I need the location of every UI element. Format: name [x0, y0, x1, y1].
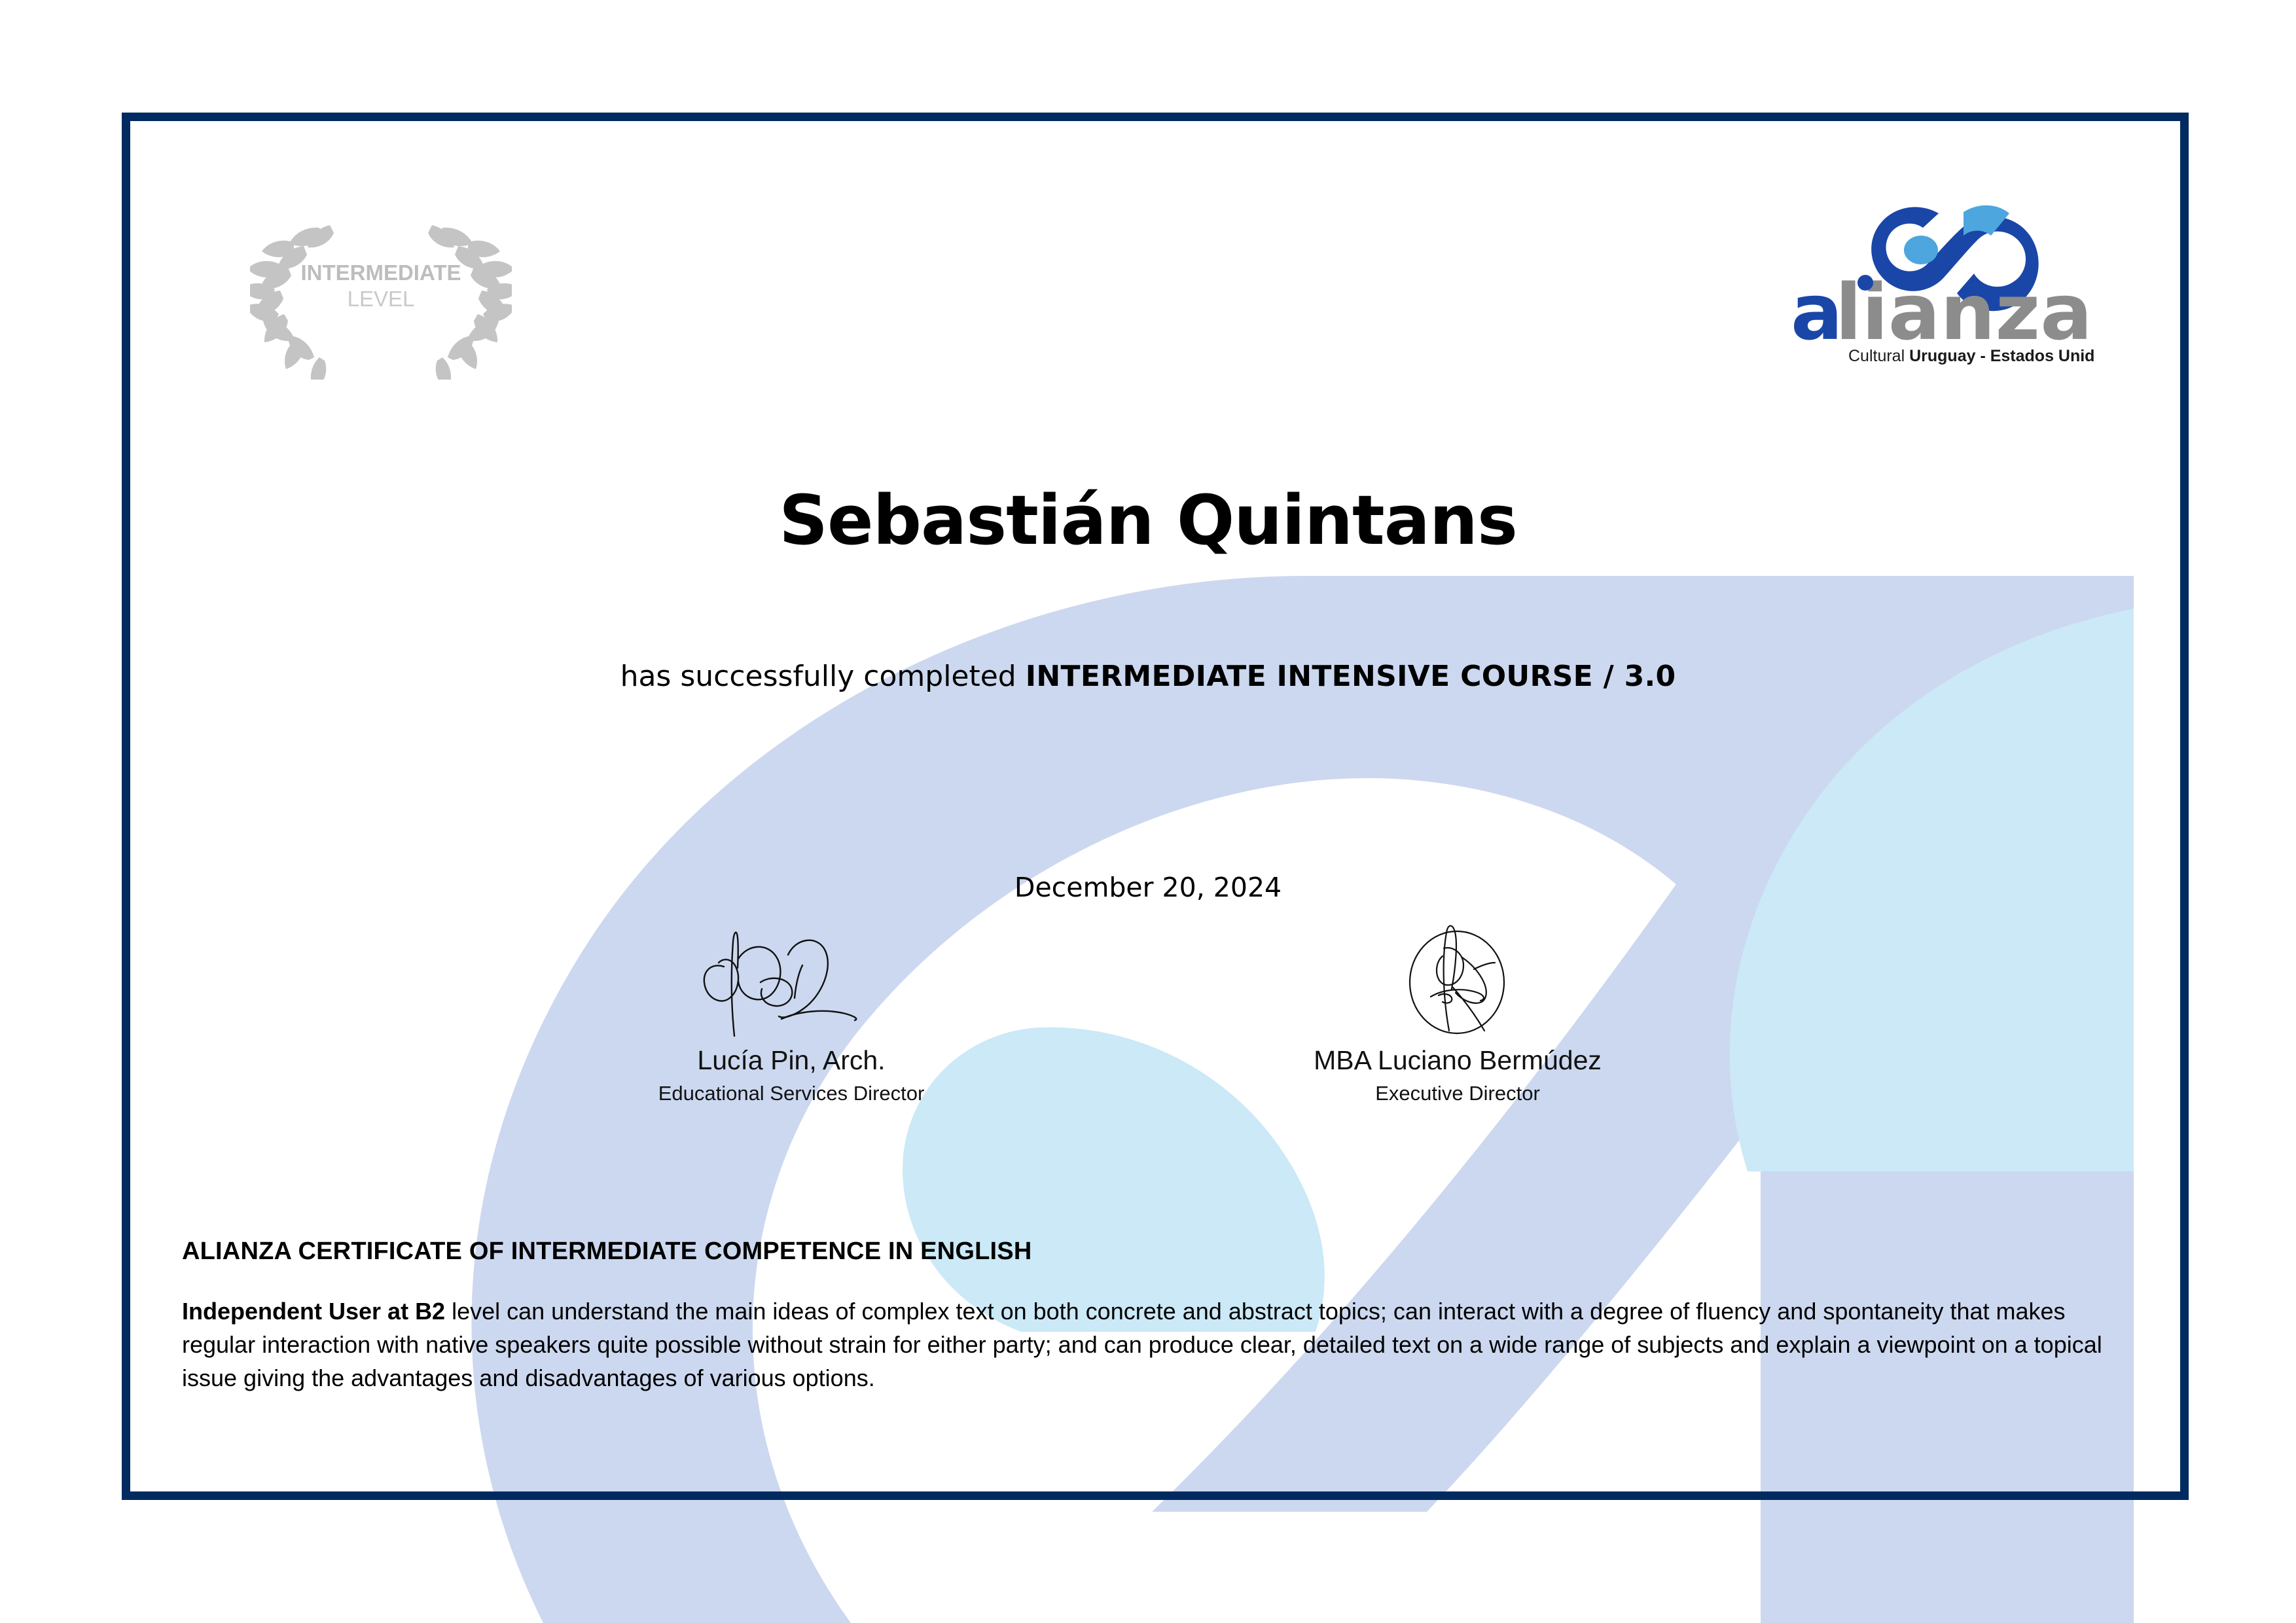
- certificate-page: INTERMEDIATE LEVEL a lianza Cultural Uru: [0, 0, 2296, 1623]
- logo-wordmark-rest: lianza: [1835, 267, 2092, 357]
- competence-heading: ALIANZA CERTIFICATE OF INTERMEDIATE COMP…: [182, 1237, 2113, 1267]
- signature-lucia-pin-icon: [582, 913, 1001, 1044]
- logo-tagline-regular: Cultural: [1848, 347, 1909, 365]
- signature-block-executive: MBA Luciano Bermúdez Executive Director: [1248, 913, 1667, 1105]
- svg-text:Cultural Uruguay - Estados Uni: Cultural Uruguay - Estados Unidos: [1848, 347, 2094, 365]
- competence-body: Independent User at B2 level can underst…: [182, 1294, 2113, 1395]
- signer-name: MBA Luciano Bermúdez: [1248, 1045, 1667, 1076]
- signature-block-educational-services: Lucía Pin, Arch. Educational Services Di…: [582, 913, 1001, 1105]
- logo-i-dot-icon: [1857, 275, 1873, 291]
- signer-title: Executive Director: [1248, 1081, 1667, 1105]
- signer-name: Lucía Pin, Arch.: [582, 1045, 1001, 1076]
- recipient-name: Sebastián Quintans: [0, 483, 2296, 558]
- level-badge: INTERMEDIATE LEVEL: [250, 196, 512, 380]
- issue-date: December 20, 2024: [0, 872, 2296, 903]
- signature-luciano-bermudez-icon: [1248, 913, 1667, 1044]
- badge-level-line1: INTERMEDIATE: [300, 260, 461, 285]
- course-name: INTERMEDIATE INTENSIVE COURSE / 3.0: [1026, 660, 1676, 693]
- badge-level-line2: LEVEL: [348, 287, 415, 311]
- alianza-logo: a lianza Cultural Uruguay - Estados Unid…: [1767, 196, 2094, 368]
- certificate-content: INTERMEDIATE LEVEL a lianza Cultural Uru: [0, 0, 2296, 1623]
- signer-title: Educational Services Director: [582, 1081, 1001, 1105]
- completion-statement: has successfully completed INTERMEDIATE …: [0, 660, 2296, 694]
- competence-statement: ALIANZA CERTIFICATE OF INTERMEDIATE COMP…: [182, 1237, 2113, 1395]
- completion-prefix: has successfully completed: [620, 660, 1026, 693]
- logo-tagline-bold: Uruguay - Estados Unidos: [1909, 347, 2094, 365]
- competence-level-label: Independent User at B2: [182, 1298, 445, 1325]
- competence-description: level can understand the main ideas of c…: [182, 1298, 2102, 1391]
